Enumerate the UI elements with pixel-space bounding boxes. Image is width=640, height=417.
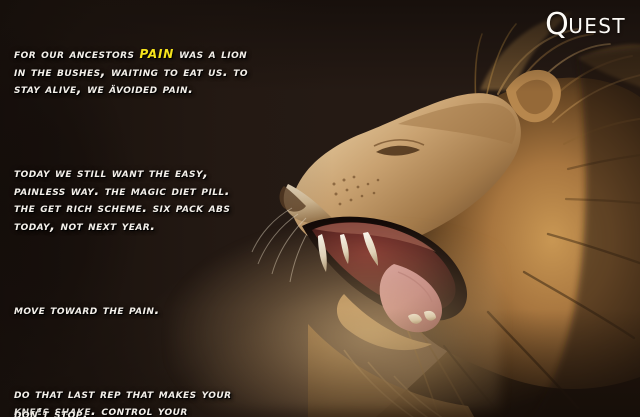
quest-logo: Q UEST <box>545 9 626 39</box>
text-run: For our ancestors <box>14 47 139 62</box>
text-run: don't stop. <box>14 407 88 417</box>
poster-signoff: don't stop. Soon, the lions will be afra… <box>14 371 434 417</box>
paragraph-2: Today we still want the easy, painless w… <box>14 165 414 235</box>
poster-body-copy: For our ancestors PAIN was a lion in the… <box>14 9 414 417</box>
text-run: Today we still want the easy, painless w… <box>14 166 230 234</box>
signoff-line-1: don't stop. <box>14 406 434 417</box>
highlight-pain: PAIN <box>139 43 174 62</box>
paragraph-3: Move toward the pain. <box>14 302 414 320</box>
text-run: Move toward the pain. <box>14 303 160 318</box>
motivational-poster: Q UEST For our ancestors PAIN was a lion… <box>0 0 640 417</box>
paragraph-1: For our ancestors PAIN was a lion in the… <box>14 44 414 99</box>
quest-logo-initial: Q <box>545 10 569 40</box>
quest-logo-wordmark: UEST <box>568 16 626 36</box>
